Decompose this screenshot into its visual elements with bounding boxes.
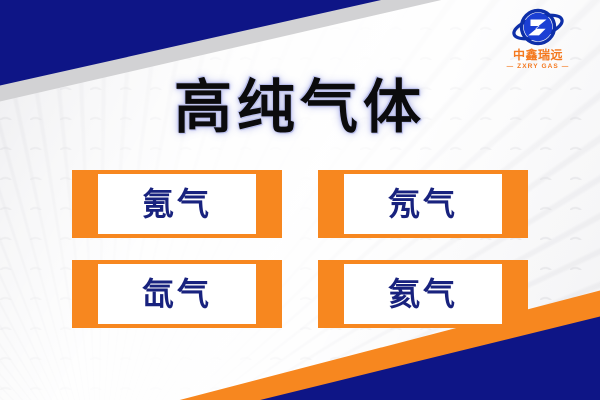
product-chip-inner: 氙气: [98, 264, 256, 324]
product-chip-label: 氙气: [142, 277, 212, 311]
logo-name-en: — ZXRY GAS —: [490, 62, 586, 71]
product-chip-label: 氖气: [388, 187, 458, 221]
product-chip-inner: 氪气: [98, 174, 256, 234]
product-chip-label: 氪气: [142, 187, 212, 221]
product-chip-grid: 氪气 氖气 氙气 氦气: [72, 170, 528, 328]
company-logo[interactable]: 中鑫瑞远 — ZXRY GAS —: [490, 6, 586, 80]
product-chip-helium[interactable]: 氦气: [318, 260, 528, 328]
product-chip-neon[interactable]: 氖气: [318, 170, 528, 238]
poster-canvas: 中鑫瑞远 — ZXRY GAS — 高纯气体 氪气 氖气 氙气 氦气: [0, 0, 600, 400]
product-chip-inner: 氖气: [344, 174, 502, 234]
page-title: 高纯气体: [0, 76, 600, 138]
product-chip-inner: 氦气: [344, 264, 502, 324]
logo-name-cn: 中鑫瑞远: [490, 49, 586, 62]
product-chip-label: 氦气: [388, 277, 458, 311]
product-chip-krypton[interactable]: 氪气: [72, 170, 282, 238]
product-chip-xenon[interactable]: 氙气: [72, 260, 282, 328]
zary-gas-planet-logo-icon: [511, 6, 565, 48]
